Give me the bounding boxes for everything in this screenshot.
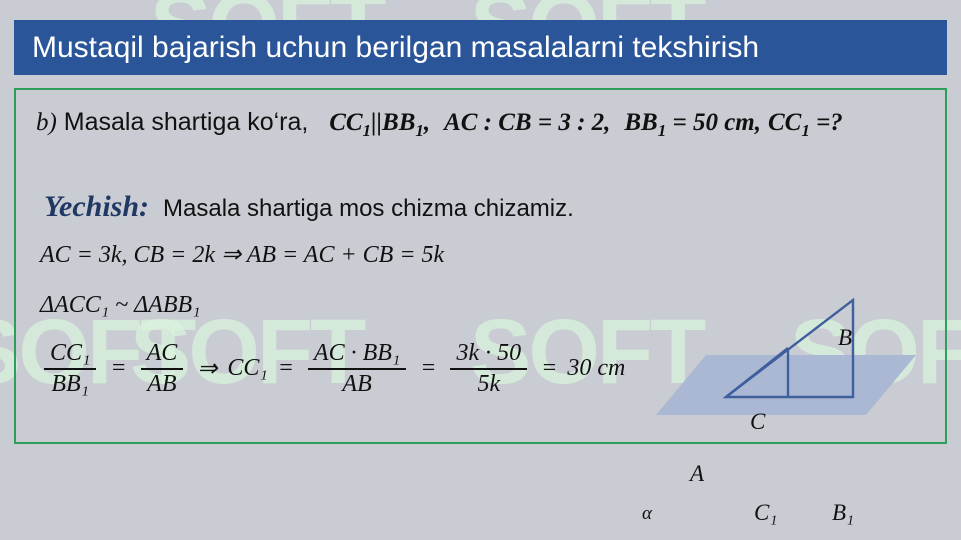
statement-marker: b) bbox=[36, 109, 57, 136]
statement-math-1: CC1||BB1, bbox=[329, 109, 430, 136]
statement-math-2: AC : CB = 3 : 2, bbox=[444, 109, 610, 136]
fraction-cc1-bb1: CC₁ BB₁ bbox=[44, 340, 96, 398]
statement-text: Masala shartiga ko‘ra, bbox=[64, 108, 309, 136]
page-title: Mustaqil bajarish uchun berilgan masalal… bbox=[14, 31, 759, 65]
fraction-3k50-5k: 3k · 50 5k bbox=[450, 340, 527, 398]
problem-statement: b) Masala shartiga ko‘ra, CC1||BB1, AC :… bbox=[36, 106, 926, 142]
solution-line-2: ΔACC₁ ~ ΔABB₁ bbox=[40, 292, 201, 319]
figure-label-b1: B₁ bbox=[832, 500, 854, 526]
figure-svg bbox=[616, 225, 936, 435]
figure-label-c: C bbox=[750, 409, 765, 435]
equals-sign: = bbox=[110, 355, 126, 382]
equals-sign: = bbox=[420, 355, 436, 382]
target-cc1: CC₁ bbox=[227, 355, 267, 382]
equals-sign: = bbox=[278, 355, 294, 382]
fraction-acbb1-ab: AC · BB₁ AB bbox=[308, 340, 406, 398]
equals-sign: = bbox=[541, 355, 557, 382]
solution-label: Yechish: bbox=[44, 190, 149, 224]
slide-title-bar: Mustaqil bajarish uchun berilgan masalal… bbox=[14, 20, 947, 75]
slide-content: b) Masala shartiga ko‘ra, CC1||BB1, AC :… bbox=[16, 90, 945, 442]
content-panel: b) Masala shartiga ko‘ra, CC1||BB1, AC :… bbox=[14, 88, 947, 444]
geometry-figure: B C A C₁ B₁ α bbox=[616, 225, 936, 435]
fraction-ac-ab: AC AB bbox=[141, 340, 184, 398]
figure-label-c1: C₁ bbox=[754, 500, 777, 526]
plane-alpha bbox=[656, 355, 916, 415]
statement-math-3: BB1 = 50 cm, bbox=[624, 109, 761, 136]
solution-fraction-chain: CC₁ BB₁ = AC AB ⇒ CC₁ = AC · BB₁ AB = 3k… bbox=[40, 340, 625, 398]
implies-sign: ⇒ bbox=[197, 354, 217, 383]
figure-label-b: B bbox=[838, 325, 852, 351]
solution-line-1: AC = 3k, CB = 2k ⇒ AB = AC + CB = 5k bbox=[40, 240, 444, 269]
figure-label-a: A bbox=[690, 461, 704, 487]
solution-intro-text: Masala shartiga mos chizma chizamiz. bbox=[163, 195, 574, 223]
figure-label-alpha: α bbox=[642, 503, 652, 525]
statement-math-4: CC1 =? bbox=[768, 109, 843, 136]
solution-header: Yechish: Masala shartiga mos chizma chiz… bbox=[44, 190, 574, 224]
